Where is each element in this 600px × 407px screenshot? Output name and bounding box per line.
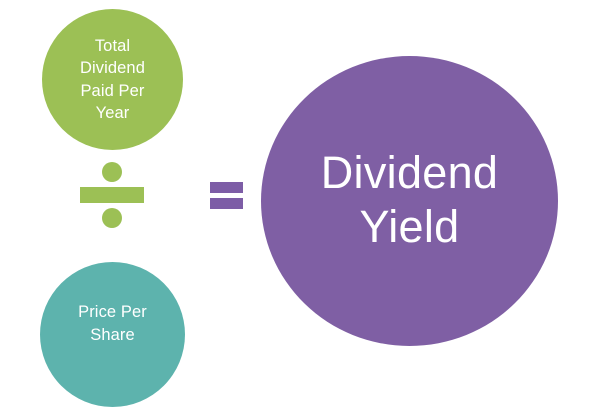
denominator-circle: Price Per Share [40, 262, 185, 407]
equals-icon [210, 182, 243, 209]
division-dot-bottom [102, 208, 122, 228]
division-icon [80, 162, 144, 228]
division-dot-top [102, 162, 122, 182]
equals-bar-bottom [210, 198, 243, 209]
result-label: Dividend Yield [321, 146, 499, 256]
division-bar [80, 187, 144, 203]
denominator-label: Price Per Share [62, 301, 163, 368]
equals-bar-top [210, 182, 243, 193]
numerator-circle: Total Dividend Paid Per Year [42, 9, 183, 150]
result-circle: Dividend Yield [261, 56, 558, 346]
dividend-yield-diagram: Total Dividend Paid Per Year Price Per S… [0, 0, 600, 403]
numerator-label: Total Dividend Paid Per Year [62, 35, 163, 125]
